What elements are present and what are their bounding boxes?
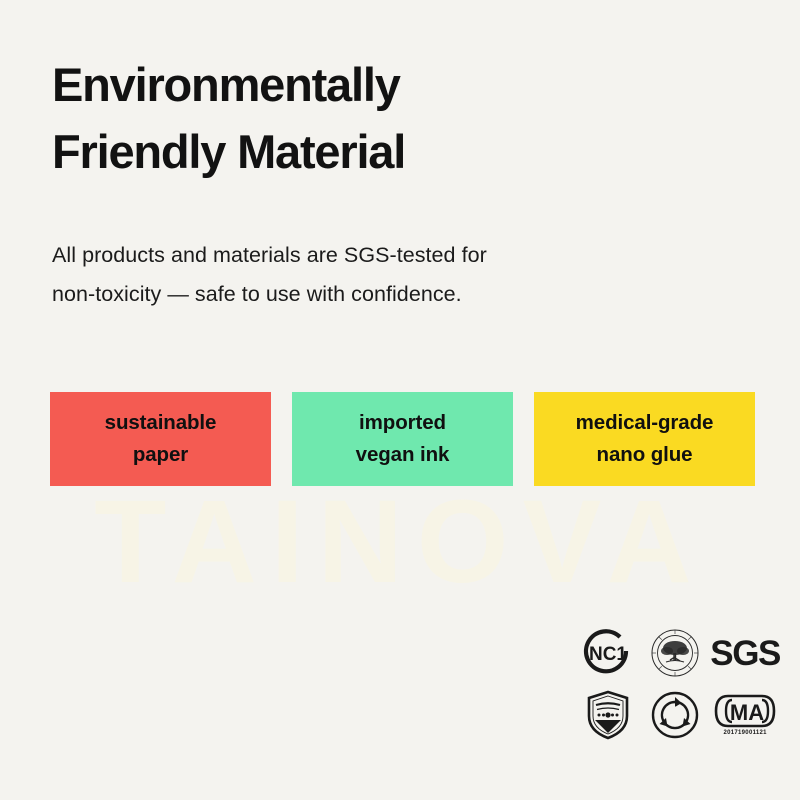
cert-nc1: NC1 xyxy=(575,622,641,684)
page-subtitle-line-2: non-toxicity — safe to use with confiden… xyxy=(52,275,652,314)
cma-code: 201719001121 xyxy=(723,730,766,736)
badge-label-line-2: vegan ink xyxy=(356,439,450,471)
badge-card-sustainable-paper[interactable]: sustainable paper xyxy=(50,392,271,486)
sgs-icon: SGS xyxy=(710,636,780,671)
shield-certification-icon xyxy=(585,689,631,741)
recycle-icon xyxy=(650,690,700,740)
cert-shield xyxy=(575,684,641,746)
page-subtitle-line-1: All products and materials are SGS-teste… xyxy=(52,236,652,275)
cert-recycle xyxy=(643,684,709,746)
cma-label: MA xyxy=(730,700,764,725)
cert-cma: MA 201719001121 xyxy=(710,684,780,746)
page-subtitle: All products and materials are SGS-teste… xyxy=(52,236,652,314)
material-badge-group: sustainable paper imported vegan ink med… xyxy=(50,392,755,486)
cert-forest-seal xyxy=(643,622,709,684)
badge-label-line-2: nano glue xyxy=(597,439,693,471)
badge-card-nano-glue[interactable]: medical-grade nano glue xyxy=(534,392,755,486)
cert-sgs: SGS xyxy=(710,622,780,684)
forest-seal-icon xyxy=(649,627,701,679)
nc1-certification-icon: NC1 xyxy=(582,627,634,679)
cma-icon: MA xyxy=(714,694,776,728)
badge-label-line-1: sustainable xyxy=(105,407,217,439)
page-title-line-1: Environmentally xyxy=(52,52,692,119)
page-title-line-2: Friendly Material xyxy=(52,119,692,186)
badge-card-vegan-ink[interactable]: imported vegan ink xyxy=(292,392,513,486)
badge-label-line-1: medical-grade xyxy=(576,407,714,439)
nc1-label: NC1 xyxy=(589,644,627,665)
badge-label-line-2: paper xyxy=(133,439,188,471)
badge-label-line-1: imported xyxy=(359,407,446,439)
page-title: Environmentally Friendly Material xyxy=(52,52,692,185)
brand-watermark: TAINOVA xyxy=(0,472,800,612)
certification-logo-group: NC1 SGS xyxy=(575,622,780,746)
